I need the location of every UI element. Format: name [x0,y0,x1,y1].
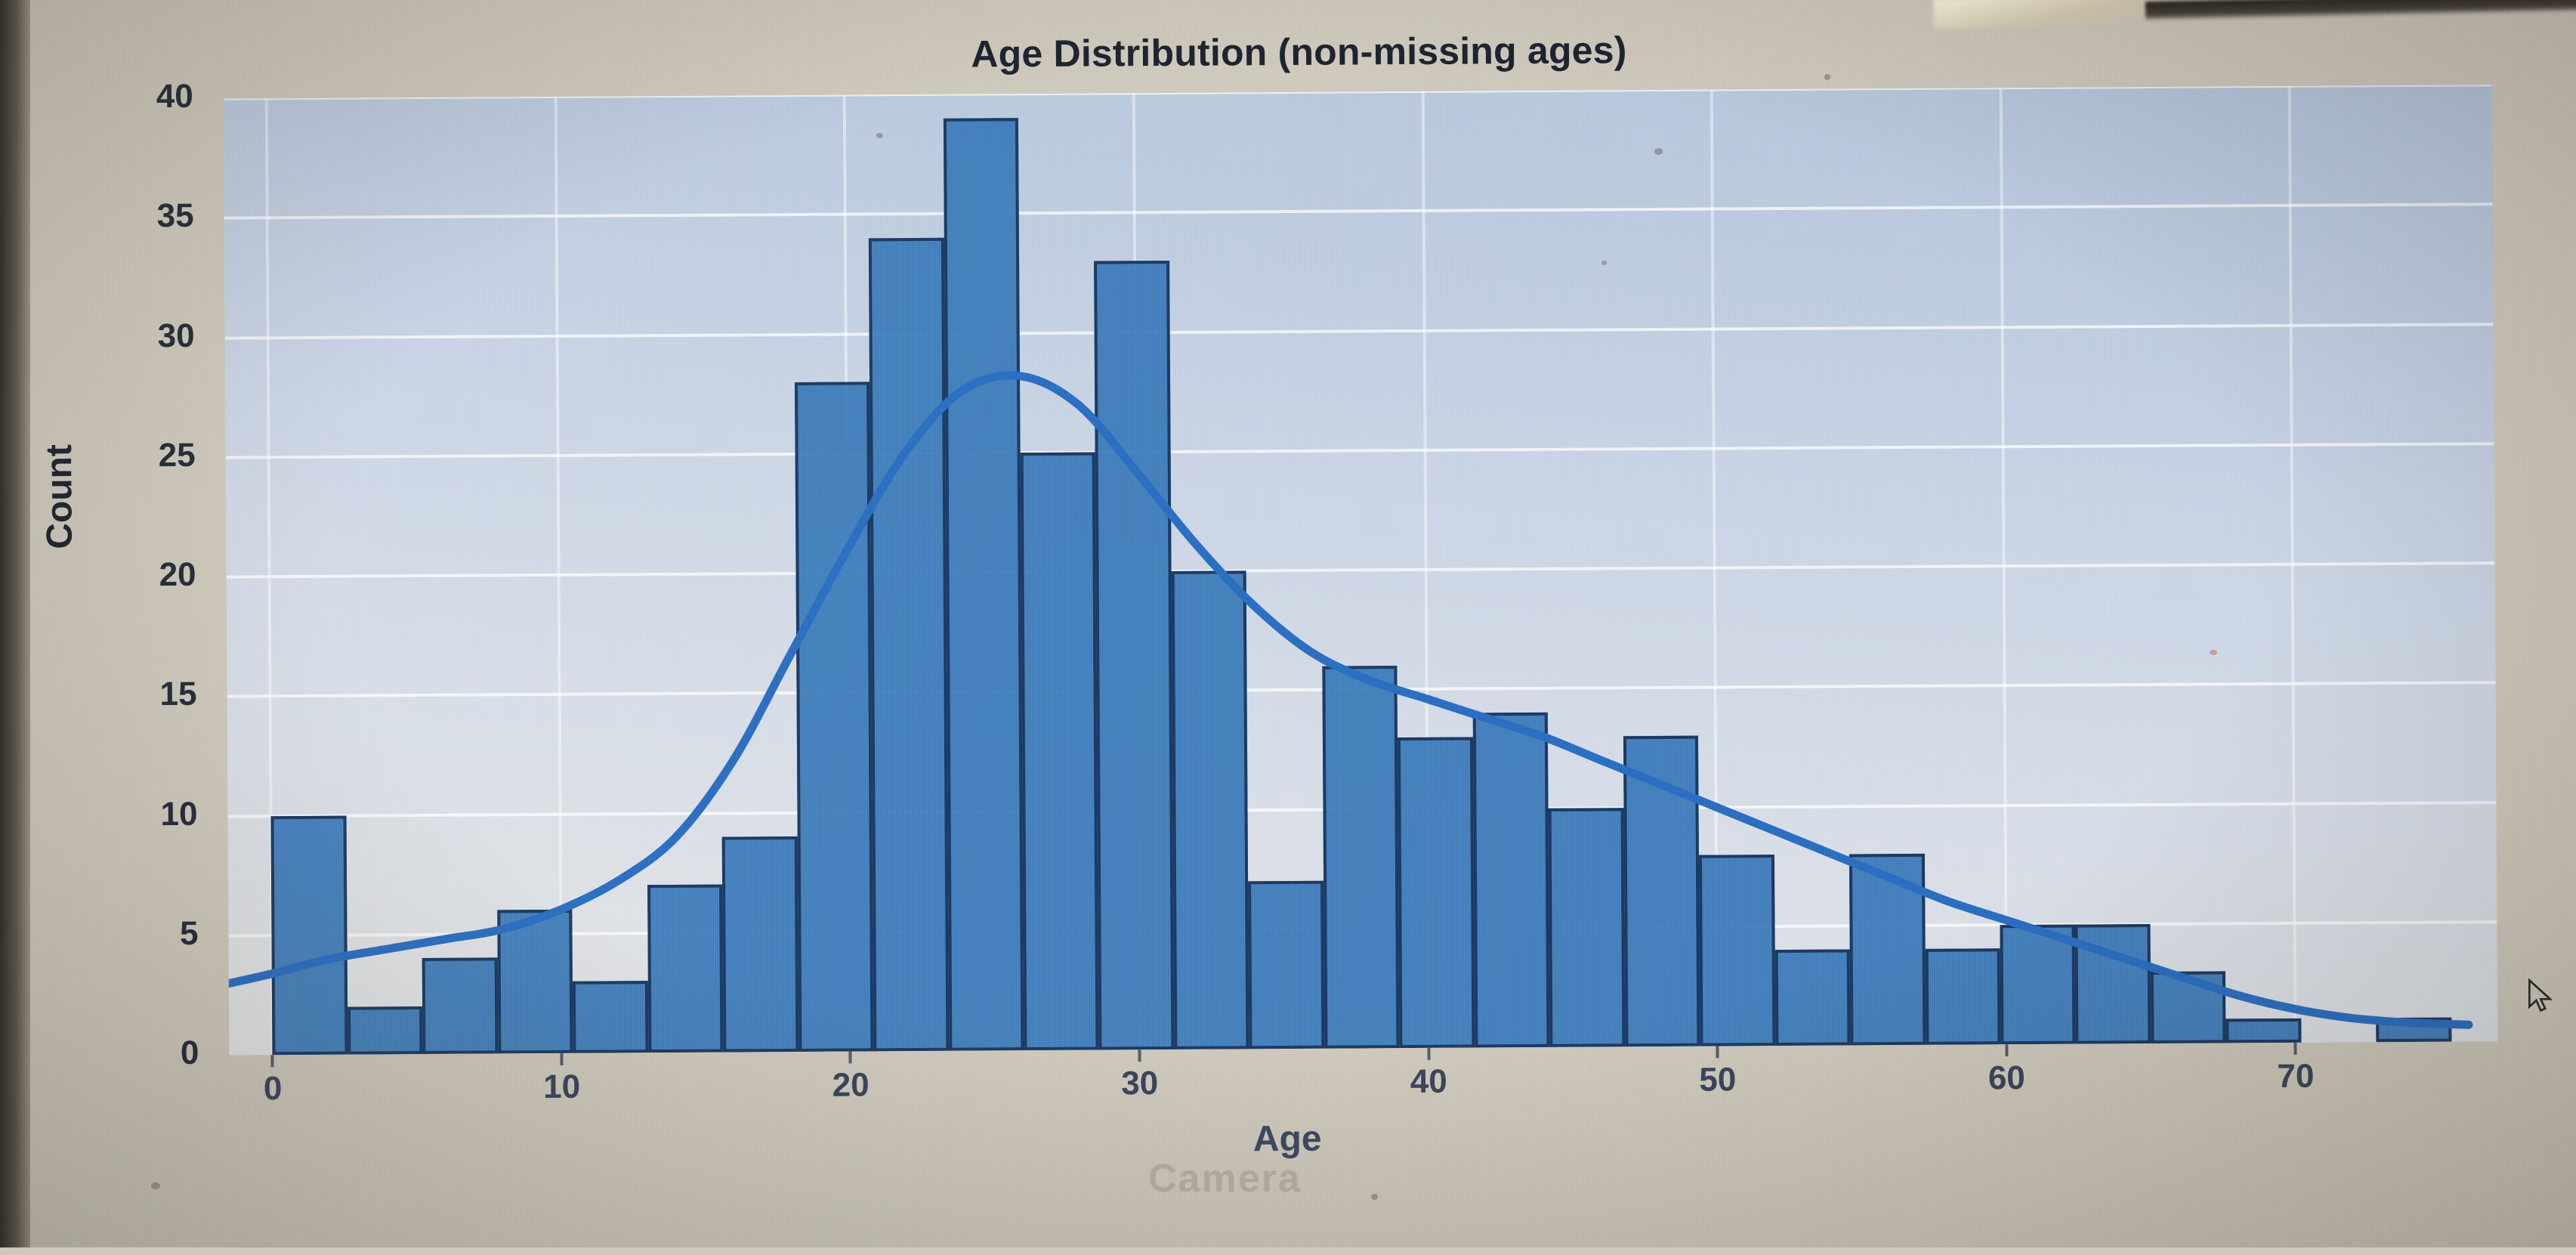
histogram-bar [1623,735,1700,1046]
histogram-bar [2226,1019,2302,1043]
histogram-bar [1472,713,1549,1048]
histogram-bar [1171,570,1249,1049]
gridline-y-20 [227,561,2495,578]
x-tick-mark-50 [1716,1046,1719,1059]
page-title: Age Distribution (non-missing ages) [971,27,1802,76]
y-tick-label-35: 35 [81,197,194,236]
y-tick-label-20: 20 [82,556,196,595]
histogram-bar [1774,950,1850,1046]
gridline-y-35 [224,202,2493,219]
gridline-y-25 [226,442,2494,459]
histogram-bar [1398,737,1475,1048]
x-tick-label-10: 10 [501,1068,622,1106]
x-tick-mark-70 [2294,1043,2297,1055]
mouse-pointer-icon [2527,978,2557,1015]
y-axis-label: Count [39,391,82,602]
histogram-bar [1549,808,1625,1047]
plot-area [224,85,2498,1055]
x-tick-label-0: 0 [212,1070,333,1108]
y-tick-label-40: 40 [80,78,193,116]
matplotlib-figure: Age Distribution (non-missing ages) 0510… [0,0,2576,1255]
histogram-bar [795,382,874,1052]
x-tick-mark-30 [1138,1049,1141,1062]
x-tick-label-60: 60 [1946,1059,2067,1098]
x-tick-label-50: 50 [1657,1061,1778,1099]
histogram-bar [2377,1018,2452,1042]
x-tick-mark-60 [2005,1044,2008,1056]
x-tick-label-20: 20 [790,1066,911,1105]
x-tick-label-30: 30 [1080,1065,1200,1103]
x-tick-mark-20 [849,1052,852,1064]
histogram-bar [2075,924,2151,1044]
horizontal-gridlines [224,85,2492,98]
histogram-bar [573,981,648,1053]
histogram-bar [347,1006,423,1055]
histogram-bar [1248,881,1324,1049]
histogram-bar [2000,924,2075,1044]
y-tick-label-0: 0 [85,1034,199,1073]
histogram-bar [722,836,798,1052]
histogram-bar [1699,855,1775,1046]
histogram-bar [647,885,724,1053]
histogram-bar [1095,261,1175,1050]
y-tick-label-5: 5 [85,915,198,954]
x-tick-label-70: 70 [2235,1057,2356,1096]
gridline-y-30 [225,323,2494,339]
y-tick-label-15: 15 [83,675,196,714]
x-axis-label: Age [1136,1117,1438,1161]
histogram-bar [497,910,573,1053]
x-tick-mark-0 [271,1055,274,1067]
gridline-y-40 [224,85,2492,100]
histogram-bar [943,118,1024,1051]
y-tick-label-25: 25 [82,437,195,475]
x-tick-mark-40 [1427,1048,1430,1060]
x-tick-label-40: 40 [1368,1062,1489,1101]
histogram-bar [1322,666,1400,1049]
histogram-bar [422,958,498,1054]
histogram-bar [271,815,347,1055]
histogram-bar [1021,452,1099,1050]
y-tick-label-10: 10 [84,795,197,833]
histogram-bar [1925,949,2000,1045]
histogram-bar [869,238,949,1052]
histogram-bar [2151,971,2226,1043]
x-tick-mark-10 [560,1053,563,1065]
y-tick-label-30: 30 [81,317,194,355]
histogram-bar [1849,854,1926,1046]
